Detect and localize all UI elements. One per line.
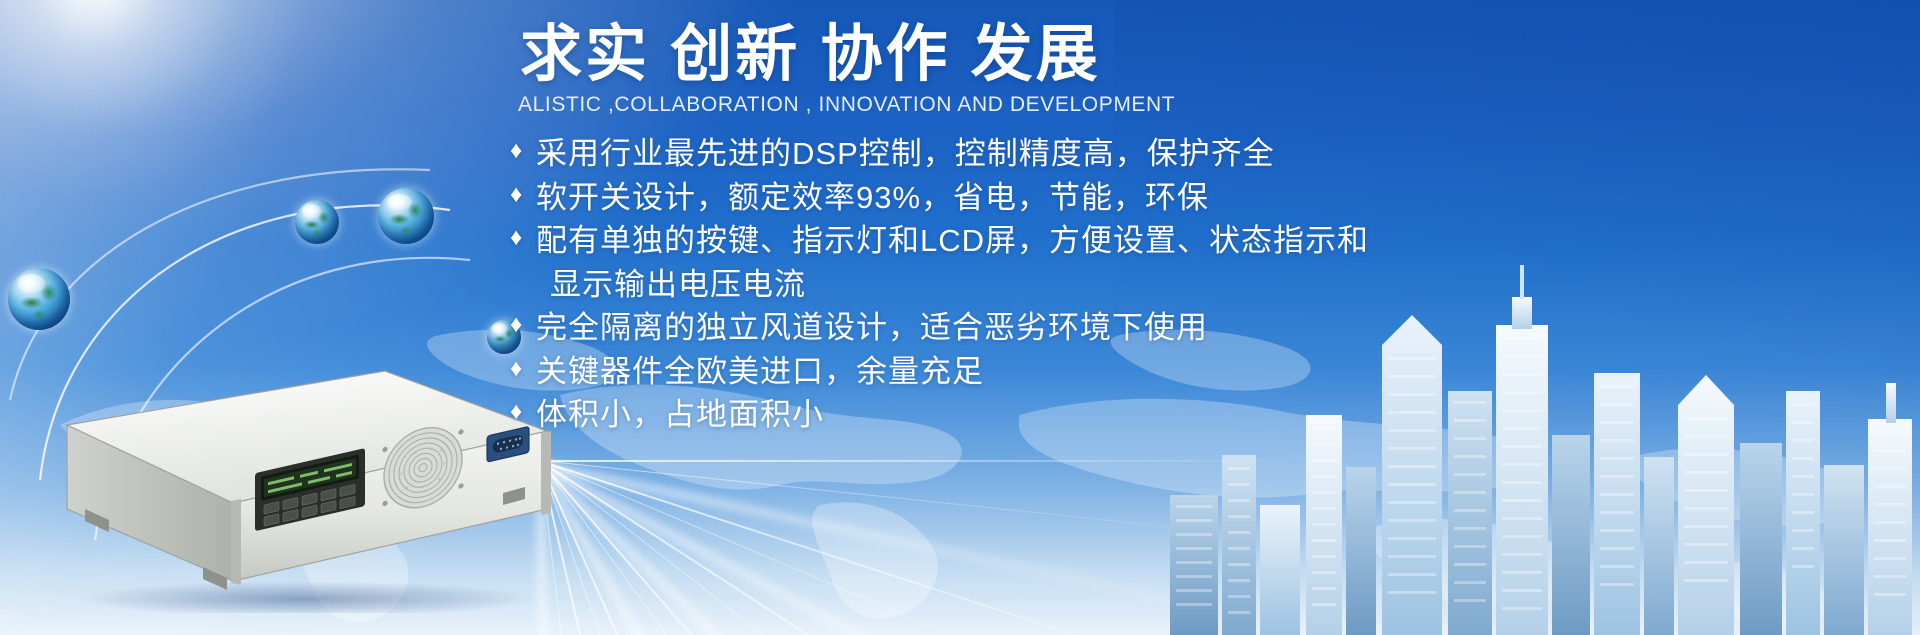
banner-text-block: 求实 创新 协作 发展 ALISTIC ,COLLABORATION , INN… (510, 18, 1850, 438)
diamond-bullet-icon: ♦ (510, 307, 536, 343)
feature-text: 体积小，占地面积小 (536, 394, 824, 436)
diamond-bullet-icon: ♦ (510, 177, 536, 213)
feature-text: 软开关设计，额定效率93%，省电，节能，环保 (536, 177, 1209, 219)
feature-item-4: ♦ 完全隔离的独立风道设计，适合恶劣环境下使用 (510, 307, 1850, 349)
diamond-bullet-icon: ♦ (510, 220, 536, 256)
diamond-bullet-icon: ♦ (510, 351, 536, 387)
feature-list: ♦ 采用行业最先进的DSP控制，控制精度高，保护齐全 ♦ 软开关设计，额定效率9… (510, 133, 1850, 436)
globe-icon-3 (378, 188, 434, 244)
feature-item-1: ♦ 采用行业最先进的DSP控制，控制精度高，保护齐全 (510, 133, 1850, 175)
globe-icon-2 (295, 200, 339, 244)
page-title: 求实 创新 协作 发展 (520, 18, 1850, 91)
rack-mount-power-supply-icon (55, 313, 555, 613)
marketing-banner: 求实 创新 协作 发展 ALISTIC ,COLLABORATION , INN… (0, 0, 1920, 635)
diamond-bullet-icon: ♦ (510, 394, 536, 430)
feature-item-5: ♦ 关键器件全欧美进口，余量充足 (510, 351, 1850, 393)
feature-text: 完全隔离的独立风道设计，适合恶劣环境下使用 (536, 307, 1208, 349)
feature-text: 关键器件全欧美进口，余量充足 (536, 351, 984, 393)
feature-item-3: ♦ 配有单独的按键、指示灯和LCD屏，方便设置、状态指示和 (510, 220, 1850, 262)
diamond-bullet-icon: ♦ (510, 133, 536, 169)
feature-text: 采用行业最先进的DSP控制，控制精度高，保护齐全 (536, 133, 1275, 175)
feature-item-6: ♦ 体积小，占地面积小 (510, 394, 1850, 436)
feature-item-2: ♦ 软开关设计，额定效率93%，省电，节能，环保 (510, 177, 1850, 219)
feature-text: 配有单独的按键、指示灯和LCD屏，方便设置、状态指示和 (536, 220, 1369, 262)
subtitle: ALISTIC ,COLLABORATION , INNOVATION AND … (518, 93, 1850, 117)
feature-item-3-continuation: 显示输出电压电流 (510, 264, 1850, 306)
feature-text: 显示输出电压电流 (536, 264, 806, 306)
